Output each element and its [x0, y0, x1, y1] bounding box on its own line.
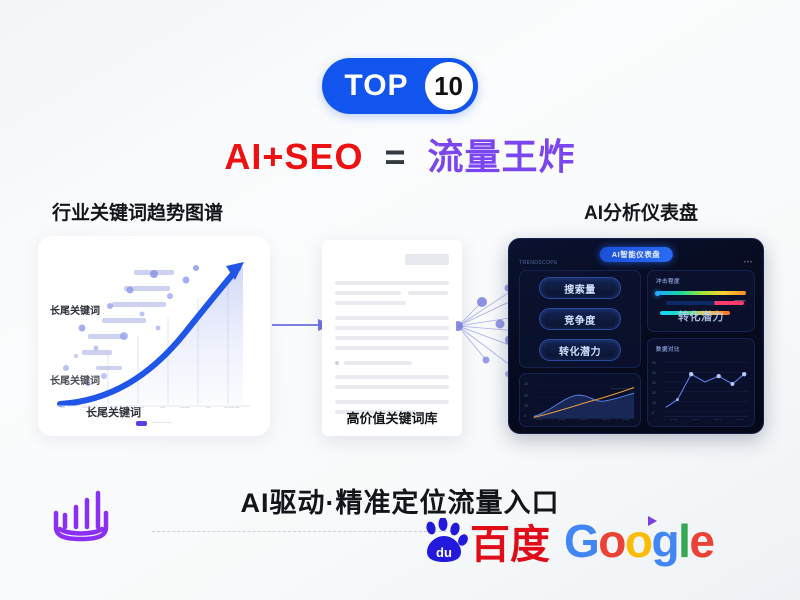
legend-label: 一一一一	[151, 420, 171, 427]
area-chart-panel: 一一一 一一一 30 20 10 0 一一 一一 一一 一一 一一	[519, 373, 641, 427]
doc-text-line	[335, 326, 449, 330]
google-logo: Google	[564, 518, 713, 564]
line-chart-panel: 数据对比 50 40 30 20 10 0	[647, 338, 755, 427]
gauge-bar-1	[658, 291, 746, 295]
page-title: AI+SEO = 流量王炸	[0, 128, 800, 180]
doc-text-line	[408, 291, 448, 295]
x-tick-6: 一	[206, 405, 211, 412]
gauge-overlay-label: 转化潜力	[648, 308, 754, 324]
x-tick-5: 一一	[180, 405, 191, 412]
top-badge-label: TOP	[344, 71, 424, 101]
left-section-caption: 行业关键词趋势图谱	[52, 198, 223, 225]
doc-text-line	[335, 385, 449, 389]
area-x-tick-0: 一一	[536, 418, 543, 423]
x-tick-4: 一	[160, 405, 165, 412]
area-y-tick-0: 30	[524, 382, 528, 386]
right-section-caption: AI分析仪表盘	[584, 198, 698, 225]
doc-text-line	[335, 316, 449, 320]
bullet-dot-icon	[335, 361, 339, 365]
gauge-value: 一一一	[734, 298, 746, 304]
google-letter-g1: G	[564, 515, 598, 567]
google-letter-g2: g	[652, 515, 679, 567]
x-tick-0: 一	[60, 405, 65, 412]
area-x-tick-3: 一一	[602, 418, 609, 423]
headline-equals: =	[385, 136, 407, 177]
bar-chart-icon	[48, 483, 114, 547]
doc-text-line	[344, 361, 412, 365]
area-y-tick-3: 0	[524, 414, 526, 418]
line-x-tick-1: 一一	[692, 418, 699, 423]
doc-text-line	[335, 346, 449, 350]
keyword-label-2: 长尾关键词	[50, 372, 100, 387]
doc-text-line	[335, 336, 449, 340]
line-y-tick-5: 0	[652, 411, 654, 415]
ai-dashboard: AI智能仪表盘 TRENDSCOPE ••• 搜索量 竞争度 转化潜力 一一一 …	[508, 238, 764, 434]
headline-right: 流量王炸	[428, 136, 576, 177]
gauge-panel: 冲击程度 一一一 转化潜力	[647, 270, 755, 332]
x-axis-sublabel: 一一一	[116, 413, 131, 420]
legend-swatch	[136, 421, 147, 426]
gauge-bar-2	[666, 301, 744, 305]
x-tick-2: 一一	[108, 405, 119, 412]
metric-pill-competition[interactable]: 竞争度	[539, 308, 621, 330]
line-y-tick-2: 30	[652, 381, 656, 385]
line-y-tick-3: 20	[652, 391, 656, 395]
search-engine-logos: du 百度 Google	[420, 518, 713, 564]
doc-header-block	[405, 254, 449, 265]
keyword-library-document: 高价值关键词库	[322, 240, 462, 436]
x-tick-3: 一一	[134, 405, 145, 412]
dashed-connector	[152, 531, 452, 532]
doc-text-line	[335, 301, 406, 305]
top-badge: TOP 10	[0, 58, 800, 114]
document-title: 高价值关键词库	[322, 408, 462, 427]
line-x-tick-0: 一一	[670, 418, 677, 423]
line-y-tick-1: 40	[652, 371, 656, 375]
headline-left: AI+SEO	[224, 136, 363, 177]
google-letter-o2: o	[625, 515, 652, 567]
doc-bullet-item	[335, 361, 449, 365]
metric-pill-conversion[interactable]: 转化潜力	[539, 339, 621, 361]
baidu-du-text: du	[436, 545, 452, 560]
chart-legend: 一一一一	[38, 420, 270, 427]
metric-pills-panel: 搜索量 竞争度 转化潜力	[519, 270, 641, 368]
x-tick-1: 一一	[82, 405, 93, 412]
google-letter-l: l	[678, 515, 689, 567]
dashboard-brand: TRENDSCOPE	[519, 260, 558, 266]
trend-chart-card: 长尾关键词 长尾关键词 长尾关键词 一 一一 一一 一一 一 一一 一 一一一 …	[38, 236, 270, 436]
line-chart-graphic	[648, 339, 754, 426]
line-x-tick-2: 一一	[714, 418, 721, 423]
dashboard-title: AI智能仪表盘	[600, 247, 673, 262]
google-letter-o1: o	[598, 515, 625, 567]
google-letter-e: e	[689, 515, 713, 567]
top-badge-pill: TOP 10	[322, 58, 477, 114]
doc-text-line	[335, 375, 449, 379]
area-x-tick-1: 一一	[558, 418, 565, 423]
doc-text-line	[335, 291, 401, 295]
line-y-tick-4: 10	[652, 401, 656, 405]
metric-pill-search-volume[interactable]: 搜索量	[539, 277, 621, 299]
line-x-tick-3: 一一	[736, 418, 743, 423]
baidu-paw-icon: du	[420, 518, 468, 564]
doc-text-line	[335, 400, 449, 404]
gauge-panel-title: 冲击程度	[656, 277, 680, 285]
dashboard-menu-icon[interactable]: •••	[744, 260, 753, 266]
area-y-tick-2: 10	[524, 404, 528, 408]
area-y-tick-1: 20	[524, 394, 528, 398]
baidu-logo: du 百度	[420, 518, 550, 564]
doc-text-line	[335, 281, 449, 285]
area-x-tick-4: 一一	[622, 418, 629, 423]
top-badge-number: 10	[425, 62, 473, 110]
x-tick-7: 一一一	[224, 405, 240, 412]
area-x-tick-2: 一一	[580, 418, 587, 423]
baidu-wordmark: 百度	[470, 526, 550, 564]
line-y-tick-0: 50	[652, 361, 656, 365]
keyword-label-1: 长尾关键词	[50, 302, 100, 317]
